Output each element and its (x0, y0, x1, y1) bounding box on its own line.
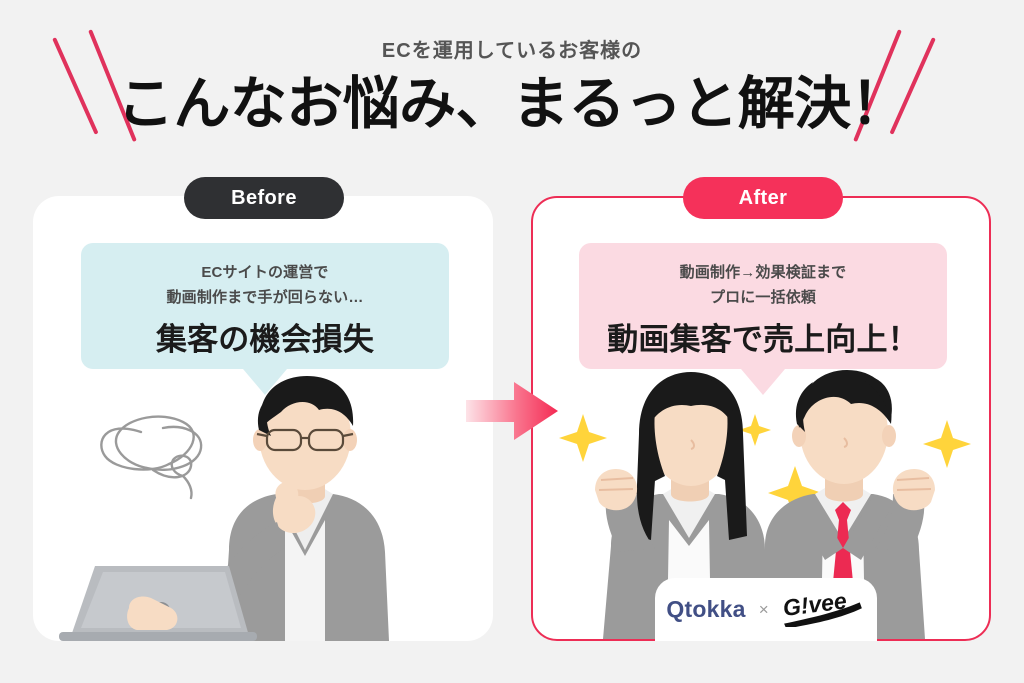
page-title: こんなお悩み、まるっと解決！ (0, 72, 1024, 138)
after-bubble-tail (741, 369, 785, 395)
worried-man-with-laptop-illustration (33, 370, 493, 641)
logo-separator-x: × (759, 600, 769, 620)
before-bubble-tail (243, 369, 287, 395)
after-bubble-line-1: 動画制作→効果検証まで (579, 243, 947, 282)
poster-canvas: ECを運用しているお客様の こんなお悩み、まるっと解決！ (0, 0, 1024, 683)
after-bubble-headline: 動画集客で売上向上！ (579, 307, 947, 359)
badge-after: After (683, 177, 843, 219)
before-bubble-line-2: 動画制作まで手が回らない… (81, 282, 449, 307)
after-speech-bubble: 動画制作→効果検証まで プロに一括依頼 動画集客で売上向上！ (579, 243, 947, 369)
before-speech-bubble: ECサイトの運営で 動画制作まで手が回らない… 集客の機会損失 (81, 243, 449, 369)
badge-before: Before (184, 177, 344, 219)
partner-logo-plate: Qtokka × G!vee (655, 578, 877, 641)
after-bubble-line-2: プロに一括依頼 (579, 282, 947, 307)
before-bubble-line-1: ECサイトの運営で (81, 243, 449, 282)
givee-logo: G!vee (782, 593, 866, 627)
subtitle: ECを運用しているお客様の (0, 34, 1024, 63)
right-arrow-icon (466, 382, 558, 440)
before-bubble-headline: 集客の機会損失 (81, 307, 449, 359)
qtokka-logo: Qtokka (666, 596, 745, 623)
